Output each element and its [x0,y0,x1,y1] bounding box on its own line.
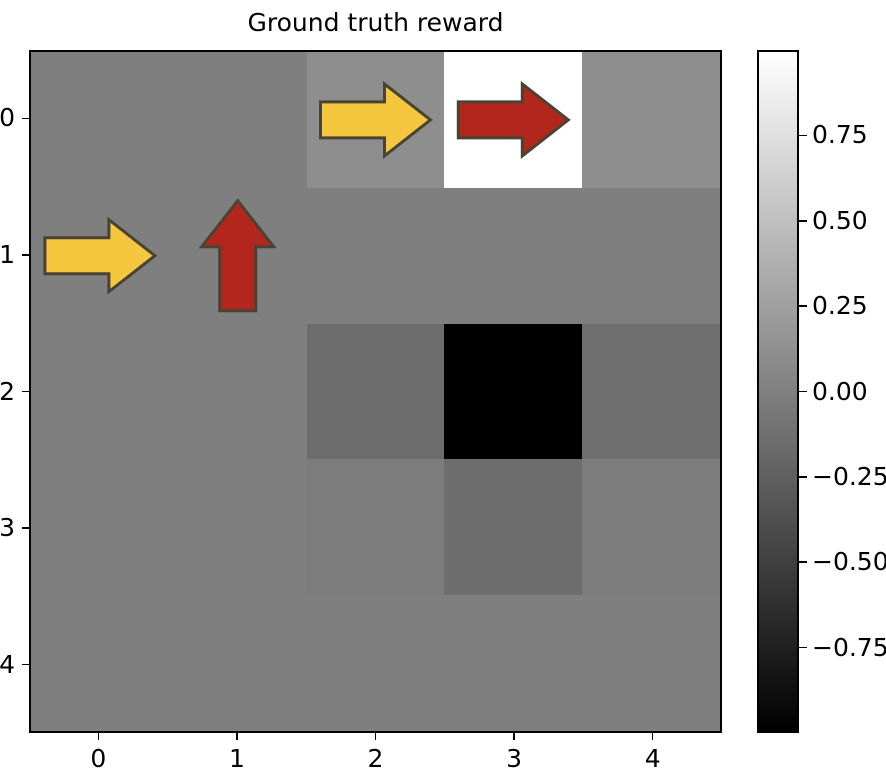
colorbar[interactable] [757,50,799,733]
colorbar-tick-mark-1 [799,220,807,222]
heatmap-cell-r4-c0 [31,595,169,731]
heatmap-grid [31,52,720,731]
heatmap-cell-r3-c3 [444,459,582,595]
heatmap-cell-r4-c4 [582,595,720,731]
x-tick-label-3: 3 [506,745,522,773]
y-tick-label-3: 3 [0,514,15,542]
heatmap-cell-r2-c3 [444,324,582,460]
y-tick-label-1: 1 [0,241,15,269]
heatmap-cell-r1-c2 [307,188,445,324]
colorbar-tick-label-1: 0.50 [812,207,868,235]
heatmap-cell-r0-c3 [444,52,582,188]
heatmap-cell-r2-c1 [169,324,307,460]
x-tick-mark-4 [652,733,654,740]
colorbar-tick-mark-3 [799,391,807,393]
y-tick-label-0: 0 [0,104,15,132]
y-tick-mark-0 [22,118,29,120]
colorbar-tick-mark-2 [799,305,807,307]
heatmap-cell-r4-c3 [444,595,582,731]
x-tick-label-4: 4 [645,745,661,773]
heatmap-cell-r1-c3 [444,188,582,324]
heatmap-cell-r3-c4 [582,459,720,595]
colorbar-tick-label-6: −0.75 [812,634,886,662]
x-tick-mark-2 [375,733,377,740]
colorbar-tick-mark-0 [799,135,807,137]
y-tick-label-4: 4 [0,651,15,679]
colorbar-tick-label-3: 0.00 [812,378,868,406]
x-tick-label-0: 0 [90,745,106,773]
y-tick-mark-1 [22,254,29,256]
y-tick-label-2: 2 [0,378,15,406]
x-tick-label-1: 1 [229,745,245,773]
heatmap-cell-r0-c4 [582,52,720,188]
heatmap-cell-r3-c2 [307,459,445,595]
heatmap-axes[interactable] [29,50,722,733]
colorbar-tick-mark-5 [799,561,807,563]
x-tick-mark-3 [513,733,515,740]
colorbar-tick-mark-4 [799,476,807,478]
colorbar-tick-label-0: 0.75 [812,121,868,149]
heatmap-cell-r2-c4 [582,324,720,460]
figure-canvas: Ground truth reward 01234 01234 0.750.50… [0,0,886,784]
heatmap-cell-r1-c4 [582,188,720,324]
y-tick-mark-2 [22,391,29,393]
y-tick-mark-4 [22,664,29,666]
heatmap-cell-r2-c0 [31,324,169,460]
heatmap-cell-r0-c2 [307,52,445,188]
colorbar-tick-label-4: −0.25 [812,463,886,491]
heatmap-cell-r1-c0 [31,188,169,324]
x-tick-mark-1 [236,733,238,740]
heatmap-cell-r2-c2 [307,324,445,460]
colorbar-tick-mark-6 [799,647,807,649]
colorbar-tick-label-2: 0.25 [812,292,868,320]
y-tick-mark-3 [22,527,29,529]
heatmap-cell-r4-c2 [307,595,445,731]
colorbar-tick-label-5: −0.50 [812,548,886,576]
x-tick-mark-0 [98,733,100,740]
heatmap-cell-r3-c0 [31,459,169,595]
heatmap-cell-r1-c1 [169,188,307,324]
heatmap-cell-r0-c1 [169,52,307,188]
heatmap-cell-r4-c1 [169,595,307,731]
page-title: Ground truth reward [29,8,722,38]
heatmap-cell-r0-c0 [31,52,169,188]
x-tick-label-2: 2 [368,745,384,773]
heatmap-cell-r3-c1 [169,459,307,595]
